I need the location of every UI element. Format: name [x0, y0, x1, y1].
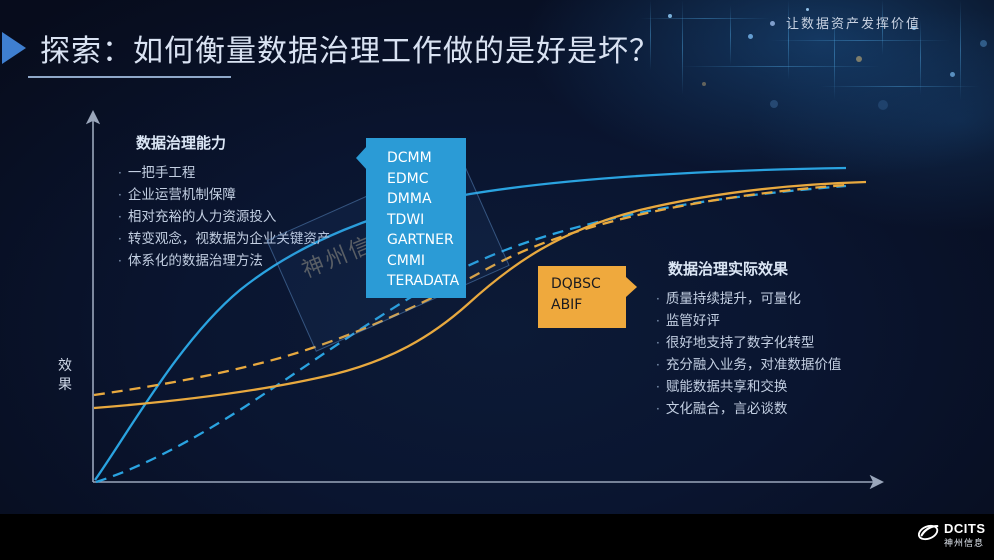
list-item: ·体系化的数据治理方法	[118, 250, 330, 272]
title-marker-icon	[2, 32, 26, 64]
list-item-label: 体系化的数据治理方法	[128, 253, 263, 269]
list-item-label: 监管好评	[666, 313, 720, 329]
list-item: ·转变观念，视数据为企业关键资产	[118, 228, 330, 250]
bullet-dot-icon: ·	[118, 166, 122, 180]
panel-governance-outcome: 数据治理实际效果 ·质量持续提升，可量化 ·监管好评 ·很好地支持了数字化转型 …	[656, 258, 841, 420]
list-item: ·很好地支持了数字化转型	[656, 332, 841, 354]
bullet-dot-icon: ·	[656, 336, 660, 350]
callout-item: DMMA	[387, 189, 466, 210]
panel-right-title: 数据治理实际效果	[668, 258, 841, 279]
footer-tagline: 让数据资产发挥价值	[786, 13, 921, 32]
panel-left-title: 数据治理能力	[136, 132, 330, 153]
bullet-dot-icon: ·	[656, 380, 660, 394]
list-item: ·赋能数据共享和交换	[656, 376, 841, 398]
bullet-dot-icon: ·	[656, 314, 660, 328]
bullet-dot-icon: ·	[118, 254, 122, 268]
list-item: ·监管好评	[656, 310, 841, 332]
callout-item: EDMC	[387, 169, 466, 190]
callout-item: DCMM	[387, 148, 466, 169]
company-logo: DCITS 神州信息	[918, 521, 990, 551]
list-item: ·充分融入业务，对准数据价值	[656, 354, 841, 376]
list-item-label: 文化融合，言必谈数	[666, 401, 788, 417]
callout-item: DQBSC	[551, 274, 626, 295]
list-item-label: 赋能数据共享和交换	[666, 379, 788, 395]
panel-governance-capability: 数据治理能力 ·一把手工程 ·企业运营机制保障 ·相对充裕的人力资源投入 ·转变…	[118, 132, 330, 272]
list-item: ·相对充裕的人力资源投入	[118, 206, 330, 228]
callout-item: CMMI	[387, 251, 466, 272]
blue-callout-tab-icon	[356, 146, 367, 170]
bullet-dot-icon: ·	[118, 232, 122, 246]
list-item-label: 一把手工程	[128, 165, 196, 181]
bullet-dot-icon: ·	[656, 358, 660, 372]
list-item: ·文化融合，言必谈数	[656, 398, 841, 420]
list-item-label: 转变观念，视数据为企业关键资产	[128, 231, 331, 247]
logo-name: DCITS	[944, 521, 986, 536]
logo-subtitle: 神州信息	[944, 536, 984, 549]
slide-footer	[0, 514, 994, 560]
bullet-dot-icon: ·	[656, 292, 660, 306]
bullet-dot-icon: ·	[656, 402, 660, 416]
list-item-label: 企业运营机制保障	[128, 187, 236, 203]
dcits-swirl-icon	[918, 523, 940, 542]
callout-metrics-orange: DQBSC ABIF	[538, 266, 626, 328]
callout-item: TDWI	[387, 210, 466, 231]
footer-bullet-icon	[770, 21, 775, 26]
list-item: ·企业运营机制保障	[118, 184, 330, 206]
title-underline	[28, 76, 231, 78]
slide-root: 探索：如何衡量数据治理工作做的是好是坏？ 效果 时间&投入	[0, 0, 994, 560]
list-item: ·一把手工程	[118, 162, 330, 184]
y-axis-label: 效果	[55, 357, 75, 395]
callout-item: TERADATA	[387, 271, 466, 292]
page-title: 探索：如何衡量数据治理工作做的是好是坏？	[40, 26, 660, 70]
list-item-label: 质量持续提升，可量化	[666, 291, 801, 307]
callout-item: ABIF	[551, 295, 626, 316]
list-item-label: 充分融入业务，对准数据价值	[666, 357, 842, 373]
callout-standards-blue: DCMM EDMC DMMA TDWI GARTNER CMMI TERADAT…	[366, 138, 466, 298]
callout-item: GARTNER	[387, 230, 466, 251]
list-item-label: 很好地支持了数字化转型	[666, 335, 815, 351]
list-item-label: 相对充裕的人力资源投入	[128, 209, 277, 225]
orange-callout-tab-icon	[626, 277, 637, 297]
bullet-dot-icon: ·	[118, 188, 122, 202]
list-item: ·质量持续提升，可量化	[656, 288, 841, 310]
bullet-dot-icon: ·	[118, 210, 122, 224]
